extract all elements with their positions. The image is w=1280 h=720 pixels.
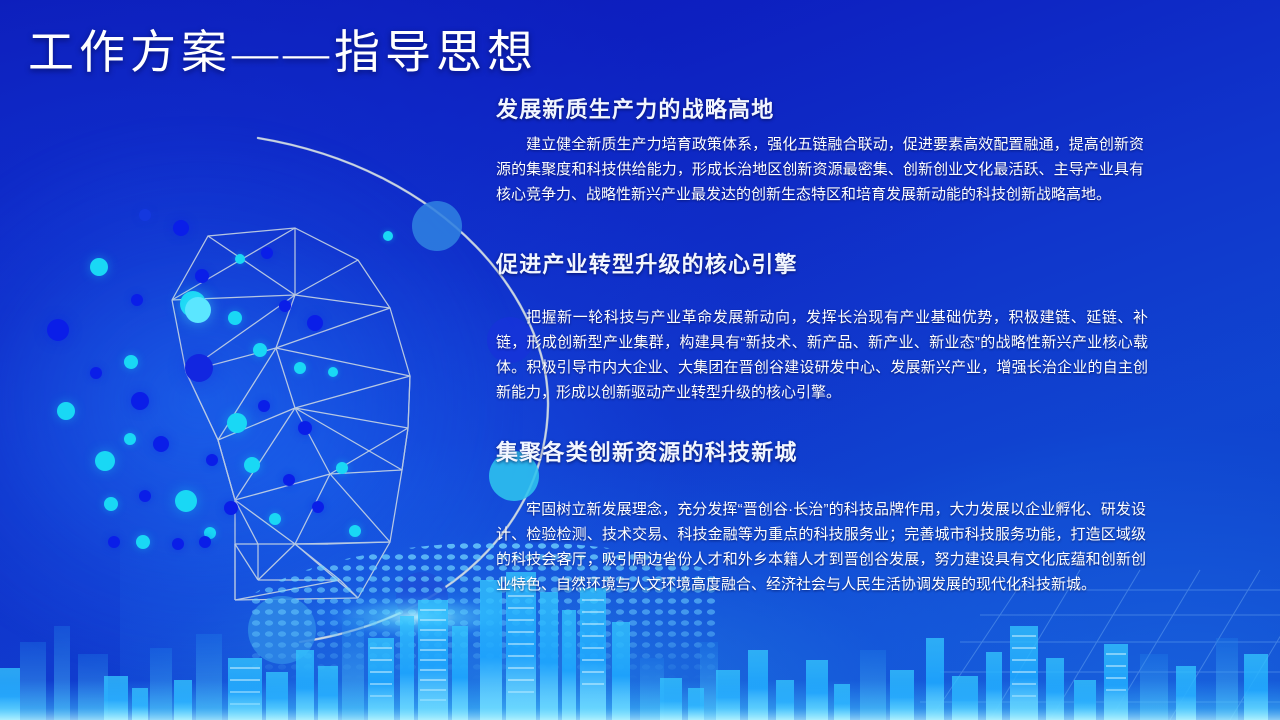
- section-body-3: 牢固树立新发展理念，充分发挥“晋创谷·长治”的科技品牌作用，大力发展以企业孵化、…: [496, 497, 1146, 597]
- content-column: 发展新质生产力的战略高地 建立健全新质生产力培育政策体系，强化五链融合联动，促进…: [496, 92, 1152, 601]
- slide-canvas: 工作方案——指导思想 发展新质生产力的战略高地 建立健全新质生产力培育政策体系，…: [0, 0, 1280, 720]
- section-heading-2: 促进产业转型升级的核心引擎: [496, 247, 1152, 279]
- page-title: 工作方案——指导思想: [28, 16, 538, 82]
- section-block-2: 促进产业转型升级的核心引擎 把握新一轮科技与产业革命发展新动向，发挥长治现有产业…: [496, 247, 1152, 405]
- section-heading-1: 发展新质生产力的战略高地: [496, 92, 1152, 124]
- section-block-1: 发展新质生产力的战略高地 建立健全新质生产力培育政策体系，强化五链融合联动，促进…: [496, 92, 1152, 207]
- section-heading-3: 集聚各类创新资源的科技新城: [496, 435, 1152, 467]
- section-body-2: 把握新一轮科技与产业革命发展新动向，发挥长治现有产业基础优势，积极建链、延链、补…: [496, 305, 1148, 405]
- section-block-3: 集聚各类创新资源的科技新城 牢固树立新发展理念，充分发挥“晋创谷·长治”的科技品…: [496, 435, 1152, 597]
- section-body-1: 建立健全新质生产力培育政策体系，强化五链融合联动，促进要素高效配置融通，提高创新…: [496, 132, 1144, 207]
